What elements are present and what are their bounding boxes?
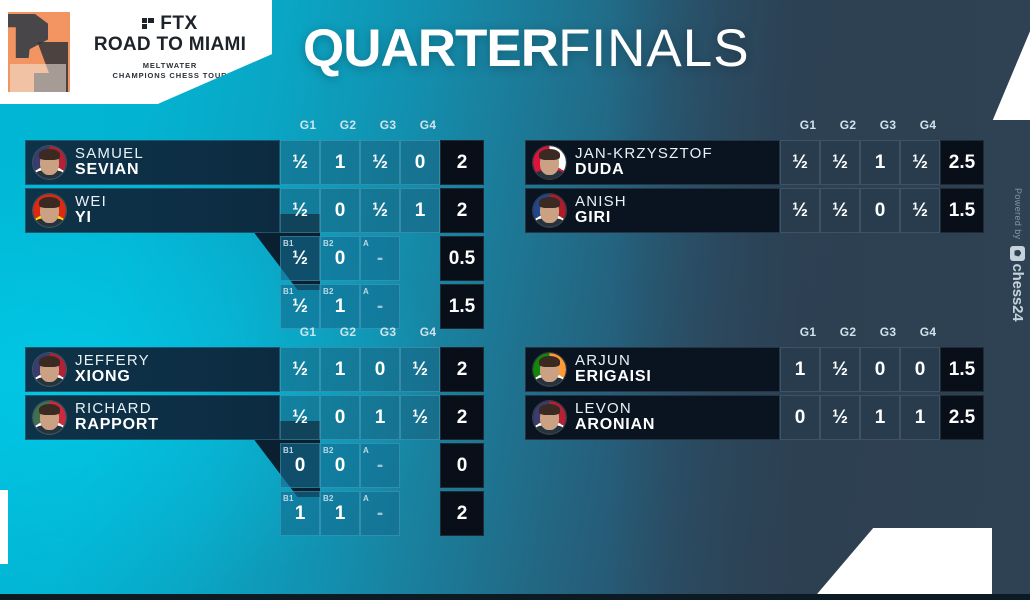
page-title: QUARTERFINALS (303, 22, 750, 75)
column-header-g1: G1 (788, 325, 828, 339)
player-row[interactable]: ANISHGIRI½½0½1.5 (525, 188, 984, 233)
tiebreak-row[interactable]: B10B20A-0 (25, 443, 484, 488)
score-total-cell: 2.5 (940, 140, 984, 185)
score-value: ½ (372, 200, 388, 222)
tiebreak-tag: A (363, 494, 369, 503)
score-value: ½ (912, 152, 928, 174)
player-name-box: JEFFERYXIONG (25, 347, 280, 392)
tiebreak-tag: B1 (283, 446, 294, 455)
score-total-cell: 2 (440, 395, 484, 440)
score-cell: A- (360, 491, 400, 536)
player-last-name: DUDA (575, 162, 713, 179)
player-last-name: ARONIAN (575, 417, 655, 434)
score-value: 1 (335, 296, 346, 318)
player-first-name: ARJUN (575, 353, 652, 369)
score-value: 1 (335, 359, 346, 381)
score-value: ½ (292, 200, 308, 222)
player-row[interactable]: JEFFERYXIONG½10½2 (25, 347, 484, 392)
player-first-name: JEFFERY (75, 353, 150, 369)
match-rows: JAN-KRZYSZTOFDUDA½½1½2.5ANISHGIRI½½0½1.5 (525, 140, 984, 236)
score-value: ½ (292, 296, 308, 318)
tiebreak-row[interactable]: B1½B20A-0.5 (25, 236, 484, 281)
score-total-cell: 0.5 (440, 236, 484, 281)
column-header-g2: G2 (828, 118, 868, 132)
score-value: ½ (832, 152, 848, 174)
column-header-g3: G3 (368, 325, 408, 339)
player-name-box: SAMUELSEVIAN (25, 140, 280, 185)
column-headers: G1G2G3G4 (288, 325, 448, 339)
score-value: - (377, 248, 383, 270)
player-first-name: RICHARD (75, 401, 159, 417)
score-value: 1 (875, 407, 886, 429)
player-first-name: SAMUEL (75, 146, 144, 162)
score-cell: ½ (820, 395, 860, 440)
score-value: ½ (292, 248, 308, 270)
score-value: ½ (832, 200, 848, 222)
score-cell: 0 (900, 347, 940, 392)
player-row[interactable]: WEIYI½0½12 (25, 188, 484, 233)
column-header-g4: G4 (408, 325, 448, 339)
player-last-name: RAPPORT (75, 417, 159, 434)
avatar (33, 194, 66, 227)
tiebreak-spacer (25, 491, 280, 536)
score-total-cell: 1.5 (440, 284, 484, 329)
tiebreak-tag: B2 (323, 287, 334, 296)
watermark: Powered by chess24 (1005, 188, 1030, 398)
tiebreak-spacer (25, 284, 280, 329)
score-cell: 1 (320, 347, 360, 392)
score-cell: ½ (360, 140, 400, 185)
column-header-g1: G1 (288, 118, 328, 132)
score-cell: B11 (280, 491, 320, 536)
tiebreak-row[interactable]: B1½B21A-1.5 (25, 284, 484, 329)
score-value: 0 (795, 407, 806, 429)
avatar-hair (539, 404, 560, 415)
score-value: ½ (832, 359, 848, 381)
avatar (33, 401, 66, 434)
score-value: 2 (457, 407, 468, 429)
player-last-name: GIRI (575, 210, 627, 227)
tiebreak-pad (400, 491, 440, 536)
score-value: 1 (415, 200, 426, 222)
score-value: - (377, 455, 383, 477)
tiebreak-tag: B1 (283, 287, 294, 296)
score-value: 0 (915, 359, 926, 381)
player-name-box: JAN-KRZYSZTOFDUDA (525, 140, 780, 185)
score-value: ½ (372, 152, 388, 174)
tiebreak-pad (400, 284, 440, 329)
score-value: 2 (457, 503, 468, 525)
match-rows: JEFFERYXIONG½10½2RICHARDRAPPORT½01½2B10B… (25, 347, 484, 539)
score-total-cell: 2.5 (940, 395, 984, 440)
score-cell: 0 (860, 347, 900, 392)
score-cell: B1½ (280, 284, 320, 329)
score-cell: 0 (860, 188, 900, 233)
score-value: 2.5 (949, 407, 975, 429)
score-cell: 1 (780, 347, 820, 392)
score-value: - (377, 296, 383, 318)
score-value: 2 (457, 359, 468, 381)
ftx-glyph-icon (142, 17, 155, 30)
column-header-g4: G4 (408, 118, 448, 132)
score-cell: 1 (860, 395, 900, 440)
score-total-cell: 0 (440, 443, 484, 488)
column-header-g4: G4 (908, 325, 948, 339)
tiebreak-pad (400, 236, 440, 281)
tiebreak-spacer (25, 236, 280, 281)
score-value: 0 (415, 152, 426, 174)
player-name: LEVONARONIAN (575, 401, 655, 434)
score-value: 2 (457, 200, 468, 222)
player-last-name: ERIGAISI (575, 369, 652, 386)
score-value: 1 (335, 152, 346, 174)
column-headers: G1G2G3G4 (788, 325, 948, 339)
score-value: 0 (457, 455, 468, 477)
score-value: ½ (412, 359, 428, 381)
score-cell: ½ (280, 395, 320, 440)
score-cell: ½ (820, 347, 860, 392)
score-cell: ½ (400, 347, 440, 392)
score-value: 2 (457, 152, 468, 174)
score-cell: 0 (320, 395, 360, 440)
score-cell: 0 (400, 140, 440, 185)
player-row[interactable]: ARJUNERIGAISI1½001.5 (525, 347, 984, 392)
player-name-box: WEIYI (25, 188, 280, 233)
score-cell: 1 (860, 140, 900, 185)
score-cell: 0 (360, 347, 400, 392)
ftx-line: FTX (72, 14, 268, 33)
score-cell: 1 (360, 395, 400, 440)
column-header-g3: G3 (368, 118, 408, 132)
avatar-hair (539, 356, 560, 367)
score-cell: ½ (780, 140, 820, 185)
avatar-hair (39, 149, 60, 160)
player-name-box: RICHARDRAPPORT (25, 395, 280, 440)
score-value: 1 (335, 503, 346, 525)
score-cell: B21 (320, 491, 360, 536)
score-value: 0 (335, 455, 346, 477)
edge-sliver-left (0, 490, 8, 564)
player-name-box: LEVONARONIAN (525, 395, 780, 440)
score-total-cell: 2 (440, 347, 484, 392)
score-total-cell: 1.5 (940, 188, 984, 233)
column-header-g2: G2 (328, 118, 368, 132)
tour-title: ROAD TO MIAMI (72, 34, 268, 56)
bottom-strip (0, 594, 1030, 600)
column-header-g4: G4 (908, 118, 948, 132)
score-cell: A- (360, 284, 400, 329)
tiebreak-row[interactable]: B11B21A-2 (25, 491, 484, 536)
score-value: ½ (832, 407, 848, 429)
score-value: 1.5 (949, 200, 975, 222)
score-cell: B1½ (280, 236, 320, 281)
player-name-box: ARJUNERIGAISI (525, 347, 780, 392)
score-cell: B10 (280, 443, 320, 488)
tiebreak-tag: A (363, 287, 369, 296)
score-value: ½ (412, 407, 428, 429)
score-value: 0 (375, 359, 386, 381)
score-value: 1 (375, 407, 386, 429)
score-cell: B20 (320, 236, 360, 281)
player-name: JEFFERYXIONG (75, 353, 150, 386)
player-first-name: LEVON (575, 401, 655, 417)
player-first-name: WEI (75, 194, 107, 210)
score-value: 0.5 (449, 248, 475, 270)
score-cell: ½ (280, 140, 320, 185)
score-value: ½ (292, 407, 308, 429)
column-headers: G1G2G3G4 (788, 118, 948, 132)
score-value: 0 (295, 455, 306, 477)
avatar (33, 353, 66, 386)
player-name: ARJUNERIGAISI (575, 353, 652, 386)
player-last-name: YI (75, 210, 107, 227)
tiebreak-tag: A (363, 446, 369, 455)
score-cell: ½ (900, 188, 940, 233)
ftx-wordmark: FTX (160, 14, 197, 33)
chess24-mark-icon (1011, 246, 1026, 261)
player-name: JAN-KRZYSZTOFDUDA (575, 146, 713, 179)
avatar (33, 146, 66, 179)
watermark-powered-by: Powered by (1013, 188, 1023, 240)
score-cell: ½ (280, 188, 320, 233)
player-row[interactable]: LEVONARONIAN0½112.5 (525, 395, 984, 440)
score-cell: 1 (900, 395, 940, 440)
chess24-wordmark: chess24 (1010, 264, 1027, 322)
tiebreak-tag: B2 (323, 239, 334, 248)
page-title-bold: QUARTER (303, 19, 558, 78)
score-cell: B21 (320, 284, 360, 329)
page-title-light: FINALS (558, 19, 750, 78)
player-last-name: SEVIAN (75, 162, 144, 179)
column-headers: G1G2G3G4 (288, 118, 448, 132)
score-cell: ½ (820, 188, 860, 233)
score-value: ½ (292, 152, 308, 174)
score-value: 1 (915, 407, 926, 429)
score-cell: ½ (400, 395, 440, 440)
avatar (533, 401, 566, 434)
score-value: 1.5 (949, 359, 975, 381)
player-row[interactable]: JAN-KRZYSZTOFDUDA½½1½2.5 (525, 140, 984, 185)
score-cell: ½ (280, 347, 320, 392)
tiebreak-tag: B2 (323, 494, 334, 503)
player-name-box: ANISHGIRI (525, 188, 780, 233)
player-name: RICHARDRAPPORT (75, 401, 159, 434)
player-name: SAMUELSEVIAN (75, 146, 144, 179)
tiebreak-tag: B1 (283, 494, 294, 503)
column-header-g2: G2 (828, 325, 868, 339)
score-value: - (377, 503, 383, 525)
avatar-hair (539, 197, 560, 208)
column-header-g3: G3 (868, 118, 908, 132)
score-total-cell: 2 (440, 491, 484, 536)
score-value: ½ (792, 200, 808, 222)
score-value: 1.5 (449, 296, 475, 318)
score-value: 1 (875, 152, 886, 174)
score-value: ½ (912, 200, 928, 222)
score-value: 1 (295, 503, 306, 525)
player-first-name: ANISH (575, 194, 627, 210)
score-cell: ½ (900, 140, 940, 185)
column-header-g1: G1 (788, 118, 828, 132)
column-header-g1: G1 (288, 325, 328, 339)
match-rows: SAMUELSEVIAN½1½02WEIYI½0½12B1½B20A-0.5B1… (25, 140, 484, 332)
score-total-cell: 2 (440, 188, 484, 233)
column-header-g3: G3 (868, 325, 908, 339)
score-cell: A- (360, 443, 400, 488)
score-cell: B20 (320, 443, 360, 488)
player-row[interactable]: SAMUELSEVIAN½1½02 (25, 140, 484, 185)
avatar-hair (539, 149, 560, 160)
player-row[interactable]: RICHARDRAPPORT½01½2 (25, 395, 484, 440)
player-first-name: JAN-KRZYSZTOF (575, 146, 713, 162)
score-value: 0 (875, 359, 886, 381)
tiebreak-pad (400, 443, 440, 488)
score-cell: 1 (400, 188, 440, 233)
background-dark-overlay (610, 0, 1030, 600)
tiebreak-tag: A (363, 239, 369, 248)
chess24-logo: chess24 (1010, 246, 1027, 322)
ftx-chess-logo-icon (8, 12, 70, 92)
score-value: ½ (792, 152, 808, 174)
score-cell: 0 (780, 395, 820, 440)
score-total-cell: 1.5 (940, 347, 984, 392)
player-name: WEIYI (75, 194, 107, 227)
score-cell: ½ (360, 188, 400, 233)
score-value: 0 (335, 407, 346, 429)
avatar (533, 146, 566, 179)
score-cell: A- (360, 236, 400, 281)
player-name: ANISHGIRI (575, 194, 627, 227)
score-value: 0 (875, 200, 886, 222)
tiebreak-tag: B1 (283, 239, 294, 248)
avatar-hair (39, 404, 60, 415)
tiebreak-spacer (25, 443, 280, 488)
avatar (533, 194, 566, 227)
score-cell: 0 (320, 188, 360, 233)
avatar-hair (39, 356, 60, 367)
player-last-name: XIONG (75, 369, 150, 386)
tiebreak-tag: B2 (323, 446, 334, 455)
score-value: 2.5 (949, 152, 975, 174)
score-cell: 1 (320, 140, 360, 185)
avatar-hair (39, 197, 60, 208)
score-cell: ½ (820, 140, 860, 185)
score-value: 0 (335, 248, 346, 270)
score-value: ½ (292, 359, 308, 381)
score-value: 0 (335, 200, 346, 222)
score-total-cell: 2 (440, 140, 484, 185)
avatar (533, 353, 566, 386)
score-value: 1 (795, 359, 806, 381)
match-rows: ARJUNERIGAISI1½001.5LEVONARONIAN0½112.5 (525, 347, 984, 443)
score-cell: ½ (780, 188, 820, 233)
broadcast-graphic: FTX ROAD TO MIAMI MELTWATER CHAMPIONS CH… (0, 0, 1030, 600)
column-header-g2: G2 (328, 325, 368, 339)
